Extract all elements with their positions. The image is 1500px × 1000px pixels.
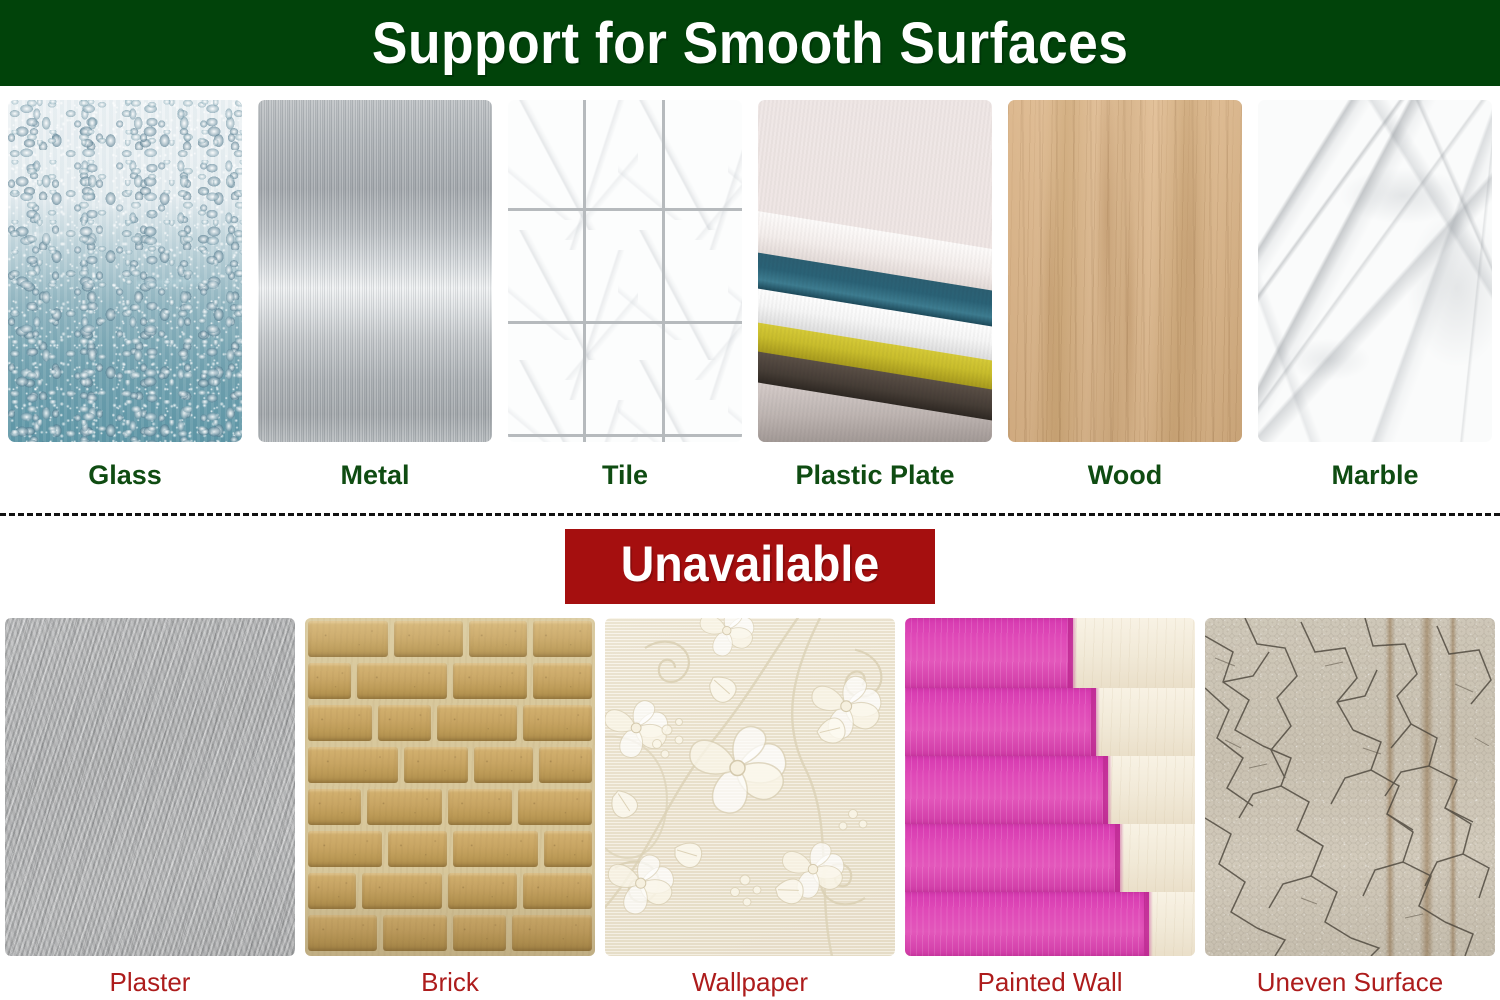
- paint-stroke-3: [905, 756, 1108, 824]
- brick-texture-icon: [305, 618, 595, 956]
- brick-course: [305, 618, 595, 660]
- metal-texture-icon: [258, 100, 492, 442]
- surface-card-tile: Tile: [500, 100, 750, 491]
- brick-unit: [308, 915, 377, 951]
- brick-unit: [523, 873, 592, 909]
- header-banner: Support for Smooth Surfaces: [0, 0, 1500, 86]
- surface-label-wood: Wood: [1088, 460, 1162, 491]
- brick-unit: [539, 747, 592, 783]
- unavailable-label: Unavailable: [621, 538, 879, 591]
- surface-card-plastic-plate: Plastic Plate: [750, 100, 1000, 491]
- brick-course: [305, 870, 595, 912]
- brick-unit: [518, 789, 592, 825]
- unsupported-surfaces-row: Plaster Brick: [0, 618, 1500, 998]
- surface-card-metal: Metal: [250, 100, 500, 491]
- brick-unit: [378, 705, 431, 741]
- brick-unit: [308, 705, 372, 741]
- brick-unit: [544, 831, 592, 867]
- paint-stroke-1: [905, 618, 1073, 688]
- brick-course: [305, 954, 595, 956]
- plaster-texture-icon: [5, 618, 295, 956]
- brick-unit: [453, 663, 527, 699]
- unsupported-surfaces-section: Plaster Brick: [0, 618, 1500, 998]
- surface-label-tile: Tile: [602, 460, 648, 491]
- surface-card-uneven-surface: Uneven Surface: [1200, 618, 1500, 998]
- brick-unit: [448, 789, 512, 825]
- surface-card-glass: Glass: [0, 100, 250, 491]
- brick-unit: [308, 873, 356, 909]
- surface-label-brick: Brick: [421, 967, 479, 998]
- uneven-surface-texture-icon: [1205, 618, 1495, 956]
- paint-edge-2: [1091, 688, 1100, 756]
- plank-4: [905, 824, 1195, 894]
- crack-pattern-icon: [1205, 618, 1495, 956]
- wood-texture-icon: [1008, 100, 1242, 442]
- paint-stroke-5: [905, 892, 1149, 956]
- brick-course: [305, 786, 595, 828]
- wallpaper-texture-icon: [605, 618, 895, 956]
- brick-unit: [308, 747, 398, 783]
- brick-unit: [533, 621, 592, 657]
- brick-course: [305, 660, 595, 702]
- plank-2: [905, 688, 1195, 758]
- plank-3: [905, 756, 1195, 826]
- brick-unit: [512, 915, 592, 951]
- surface-label-plaster: Plaster: [110, 967, 191, 998]
- brick-unit: [383, 915, 447, 951]
- brick-unit: [469, 621, 528, 657]
- brick-unit: [357, 663, 447, 699]
- brick-unit: [308, 663, 351, 699]
- brick-unit: [437, 705, 517, 741]
- glass-texture-icon: [8, 100, 242, 442]
- brick-course: [305, 702, 595, 744]
- surface-label-metal: Metal: [340, 460, 409, 491]
- surface-label-uneven-surface: Uneven Surface: [1257, 967, 1443, 998]
- surface-card-painted-wall: Painted Wall: [900, 618, 1200, 998]
- plastic-texture-icon: [758, 100, 992, 442]
- plastic-grain: [758, 100, 992, 442]
- brick-unit: [394, 621, 463, 657]
- unavailable-banner-wrap: Unavailable: [0, 529, 1500, 604]
- unavailable-badge: Unavailable: [565, 529, 935, 604]
- brick-unit: [533, 663, 592, 699]
- paint-edge-5: [1144, 892, 1153, 956]
- brick-unit: [453, 915, 506, 951]
- wallpaper-floral-pattern-icon: [605, 618, 895, 956]
- surface-label-glass: Glass: [88, 460, 162, 491]
- brick-course: [305, 828, 595, 870]
- paint-edge-1: [1068, 618, 1077, 688]
- surface-card-wood: Wood: [1000, 100, 1250, 491]
- brick-unit: [474, 747, 533, 783]
- brick-unit: [388, 831, 447, 867]
- brick-course: [305, 744, 595, 786]
- painted-wall-texture-icon: [905, 618, 1195, 956]
- brick-unit: [367, 789, 441, 825]
- brick-unit: [308, 831, 382, 867]
- brick-course: [305, 912, 595, 954]
- surface-label-marble: Marble: [1331, 460, 1418, 491]
- surface-card-plaster: Plaster: [0, 618, 300, 998]
- surface-label-wallpaper: Wallpaper: [692, 967, 808, 998]
- paint-edge-4: [1115, 824, 1124, 892]
- surface-card-wallpaper: Wallpaper: [600, 618, 900, 998]
- brick-unit: [448, 873, 517, 909]
- brick-unit: [453, 831, 538, 867]
- surface-label-plastic-plate: Plastic Plate: [795, 460, 954, 491]
- surface-label-painted-wall: Painted Wall: [978, 967, 1123, 998]
- section-divider: [0, 513, 1500, 516]
- brick-unit: [308, 789, 361, 825]
- tile-texture-icon: [508, 100, 742, 442]
- plank-1: [905, 618, 1195, 690]
- plank-5: [905, 892, 1195, 956]
- surface-card-brick: Brick: [300, 618, 600, 998]
- supported-surfaces-row: Glass Metal Tile Plastic Plate Woo: [0, 100, 1500, 491]
- brick-unit: [404, 747, 468, 783]
- surface-card-marble: Marble: [1250, 100, 1500, 491]
- supported-surfaces-section: Glass Metal Tile Plastic Plate Woo: [0, 86, 1500, 491]
- brick-unit: [308, 621, 388, 657]
- paint-stroke-2: [905, 688, 1096, 756]
- brick-unit: [523, 705, 592, 741]
- brick-unit: [362, 873, 442, 909]
- paint-stroke-4: [905, 824, 1120, 892]
- marble-texture-icon: [1258, 100, 1492, 442]
- page-title: Support for Smooth Surfaces: [372, 10, 1129, 77]
- paint-edge-3: [1103, 756, 1112, 824]
